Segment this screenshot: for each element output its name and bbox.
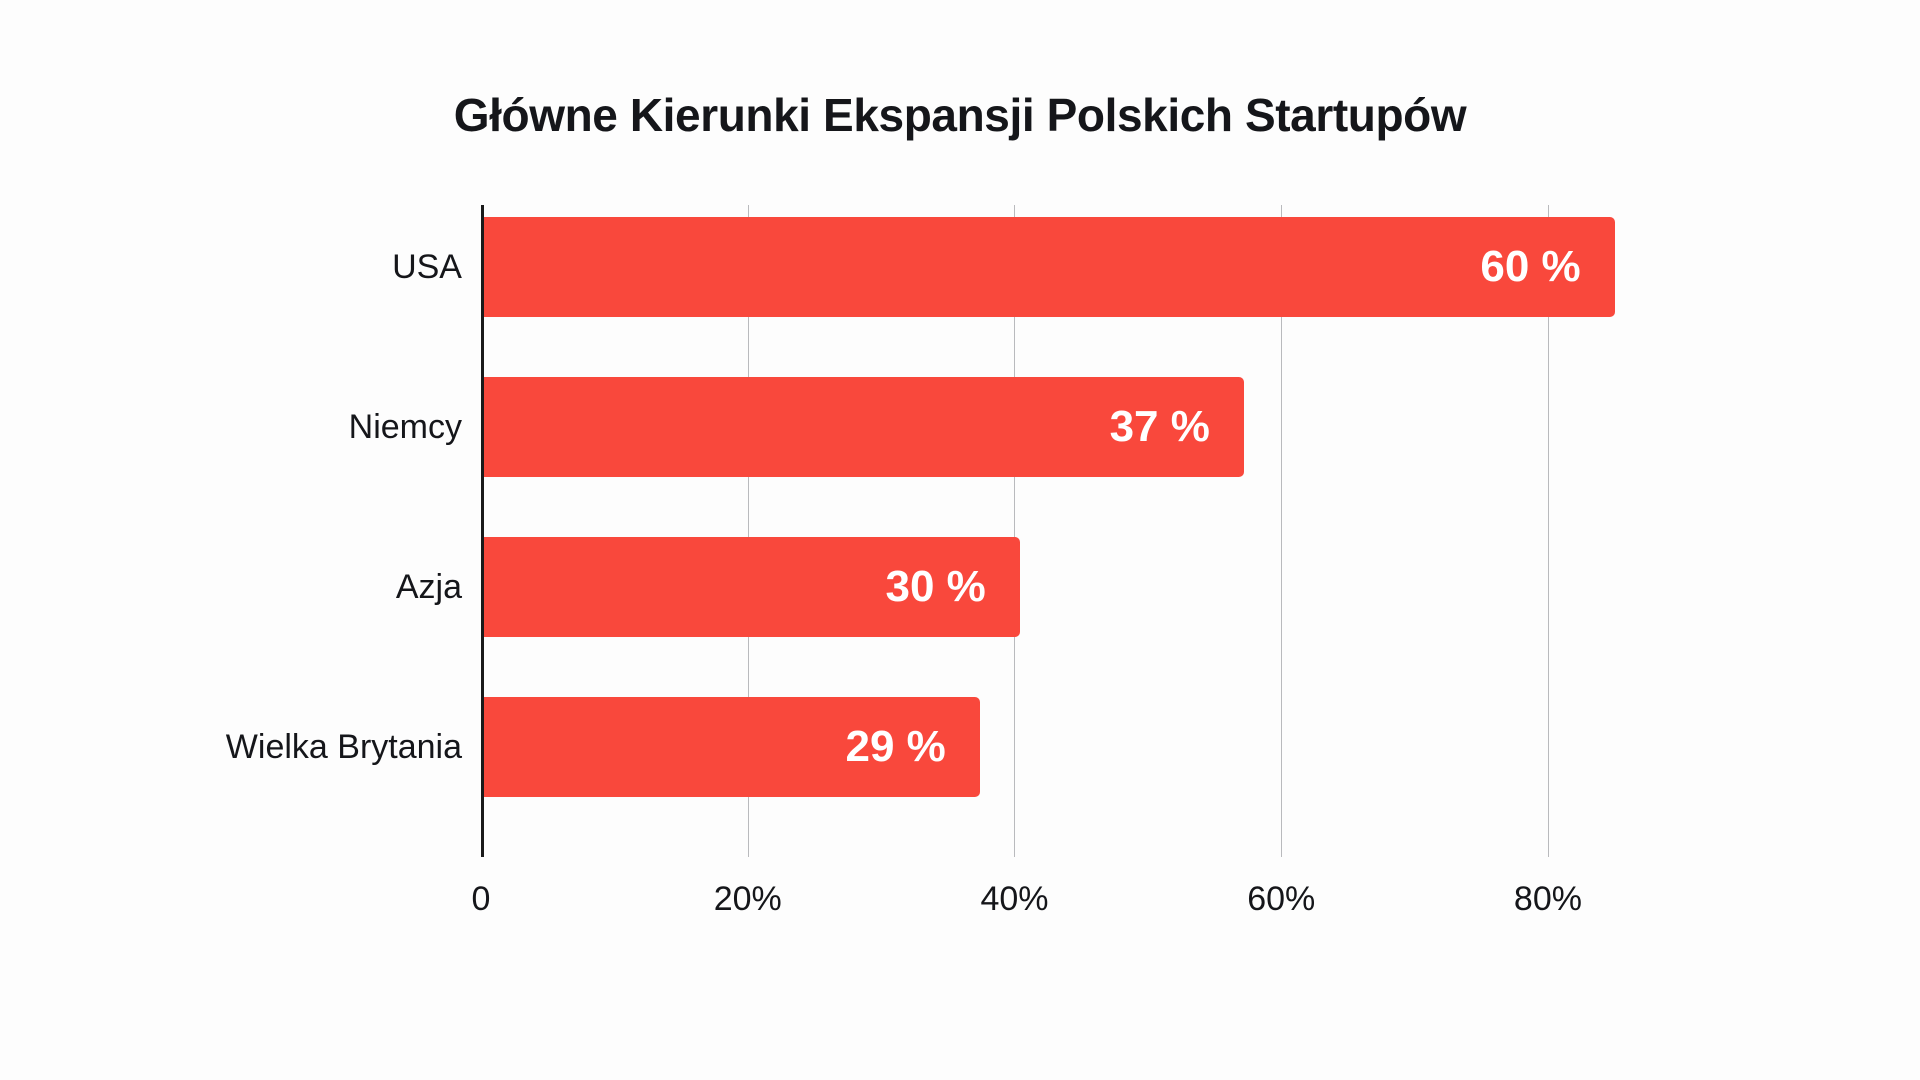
category-label-niemcy: Niemcy (349, 377, 462, 477)
bar-wielka-brytania[interactable]: 29 % (481, 697, 980, 797)
bar-usa[interactable]: 60 % (481, 217, 1615, 317)
bar-value-label: 30 % (886, 562, 986, 612)
x-tick-label-80: 80% (1514, 880, 1582, 919)
chart-canvas: Główne Kierunki Ekspansji Polskich Start… (0, 0, 1920, 1080)
plot-area: 60 %37 %30 %29 % (481, 205, 1700, 857)
chart-title: Główne Kierunki Ekspansji Polskich Start… (0, 88, 1920, 142)
x-tick-label-0: 0 (472, 880, 491, 919)
bar-azja[interactable]: 30 % (481, 537, 1020, 637)
bar-value-label: 29 % (846, 722, 946, 772)
x-tick-label-20: 20% (714, 880, 782, 919)
x-tick-label-60: 60% (1247, 880, 1315, 919)
bar-niemcy[interactable]: 37 % (481, 377, 1244, 477)
category-label-wielka-brytania: Wielka Brytania (226, 697, 462, 797)
category-label-azja: Azja (396, 537, 462, 637)
bar-value-label: 60 % (1480, 242, 1580, 292)
x-tick-label-40: 40% (980, 880, 1048, 919)
y-axis-line (481, 205, 484, 857)
category-label-usa: USA (392, 217, 462, 317)
bar-value-label: 37 % (1110, 402, 1210, 452)
